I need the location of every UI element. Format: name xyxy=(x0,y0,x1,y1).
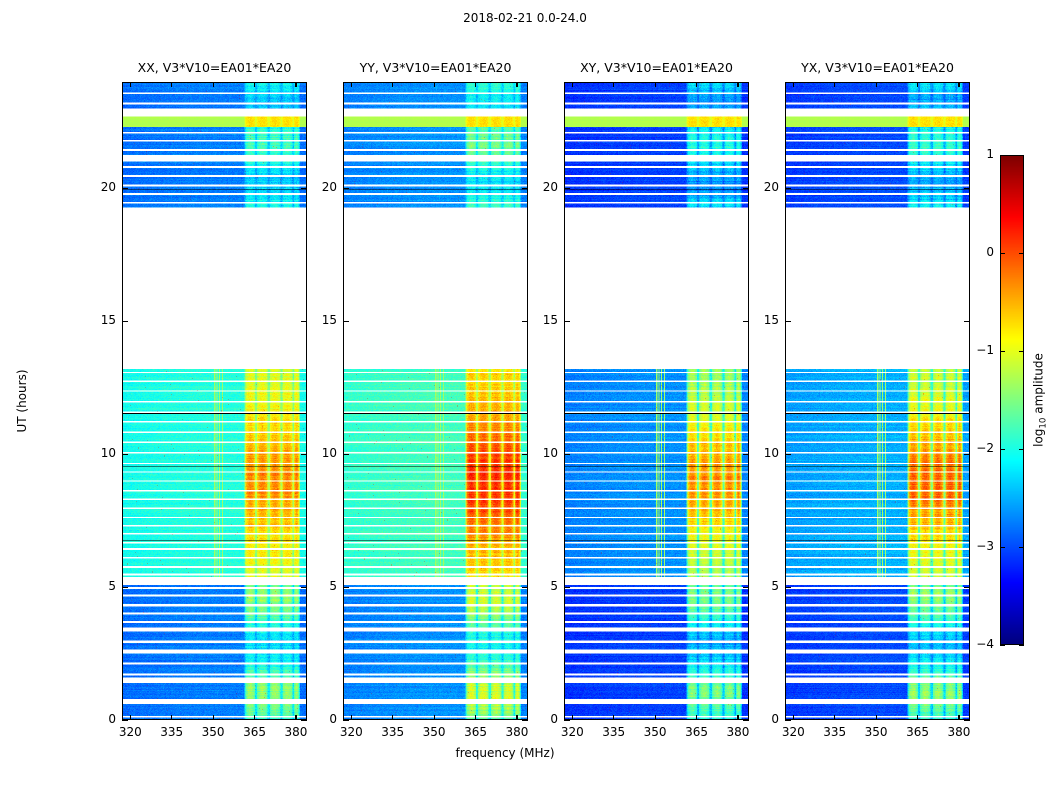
figure-canvas: 2018-02-21 0.0-24.0 UT (hours) frequency… xyxy=(0,0,1050,800)
heatmap-canvas xyxy=(565,83,748,719)
heatmap-image xyxy=(123,83,306,719)
heatmap-canvas xyxy=(344,83,527,719)
x-axis-tick-label: 350 xyxy=(644,725,667,739)
x-axis-tick-label: 320 xyxy=(561,725,584,739)
plot-area[interactable] xyxy=(564,82,749,720)
panel-title: XX, V3*V10=EA01*EA20 xyxy=(138,60,292,75)
panel-title: YY, V3*V10=EA01*EA20 xyxy=(360,60,512,75)
panel-yx: YX, V3*V10=EA01*EA2005101520320335350365… xyxy=(785,82,970,720)
colorbar-tick-label: 0 xyxy=(986,245,994,259)
x-axis-tick-label: 365 xyxy=(243,725,266,739)
plot-area[interactable] xyxy=(343,82,528,720)
heatmap-image xyxy=(786,83,969,719)
panel-xy: XY, V3*V10=EA01*EA2005101520320335350365… xyxy=(564,82,749,720)
panel-xx: XX, V3*V10=EA01*EA2005101520320335350365… xyxy=(122,82,307,720)
y-axis-tick-label: 20 xyxy=(322,180,337,194)
colorbar-tick-label: −1 xyxy=(976,343,994,357)
colorbar-label-sub: 10 xyxy=(1039,418,1049,429)
x-axis-tick-label: 320 xyxy=(782,725,805,739)
colorbar xyxy=(1000,155,1024,645)
x-axis-tick-label: 380 xyxy=(727,725,750,739)
heatmap-canvas xyxy=(786,83,969,719)
x-axis-tick-label: 380 xyxy=(948,725,971,739)
colorbar-tick-label: −2 xyxy=(976,441,994,455)
x-axis-tick-label: 350 xyxy=(202,725,225,739)
figure-suptitle: 2018-02-21 0.0-24.0 xyxy=(0,11,1050,25)
y-axis-tick-label: 5 xyxy=(771,579,779,593)
x-axis-label: frequency (MHz) xyxy=(0,746,1010,760)
y-axis-tick-label: 0 xyxy=(108,712,116,726)
y-axis-tick-label: 15 xyxy=(322,313,337,327)
y-axis-tick-label: 15 xyxy=(101,313,116,327)
x-axis-tick-label: 365 xyxy=(685,725,708,739)
colorbar-tick-label: 1 xyxy=(986,147,994,161)
heatmap-canvas xyxy=(123,83,306,719)
y-axis-label: UT (hours) xyxy=(15,369,29,432)
y-axis-tick-label: 0 xyxy=(771,712,779,726)
y-axis-tick-label: 5 xyxy=(550,579,558,593)
panel-yy: YY, V3*V10=EA01*EA2005101520320335350365… xyxy=(343,82,528,720)
heatmap-image xyxy=(344,83,527,719)
x-axis-tick-label: 320 xyxy=(119,725,142,739)
panel-title: XY, V3*V10=EA01*EA20 xyxy=(580,60,733,75)
x-axis-tick-label: 335 xyxy=(160,725,183,739)
y-axis-tick-label: 20 xyxy=(101,180,116,194)
plot-area[interactable] xyxy=(785,82,970,720)
y-axis-tick-label: 0 xyxy=(550,712,558,726)
x-axis-tick-label: 335 xyxy=(823,725,846,739)
x-axis-tick-label: 365 xyxy=(906,725,929,739)
y-axis-tick-label: 5 xyxy=(108,579,116,593)
y-axis-tick-label: 20 xyxy=(764,180,779,194)
panel-title: YX, V3*V10=EA01*EA20 xyxy=(801,60,954,75)
x-axis-tick-label: 380 xyxy=(285,725,308,739)
y-axis-tick-label: 5 xyxy=(329,579,337,593)
y-axis-tick-label: 20 xyxy=(543,180,558,194)
y-axis-tick-label: 10 xyxy=(101,446,116,460)
y-axis-tick-label: 10 xyxy=(543,446,558,460)
y-axis-tick-label: 10 xyxy=(764,446,779,460)
colorbar-tick-label: −4 xyxy=(976,637,994,651)
colorbar-label-prefix: log xyxy=(1031,429,1045,447)
y-axis-tick-label: 10 xyxy=(322,446,337,460)
heatmap-image xyxy=(565,83,748,719)
plot-area[interactable] xyxy=(122,82,307,720)
x-axis-tick-label: 350 xyxy=(423,725,446,739)
colorbar-label: log10 amplitude xyxy=(1031,353,1048,447)
x-axis-tick-label: 350 xyxy=(865,725,888,739)
y-axis-tick-label: 15 xyxy=(543,313,558,327)
y-axis-tick-label: 0 xyxy=(329,712,337,726)
x-axis-tick-label: 365 xyxy=(464,725,487,739)
x-axis-tick-label: 335 xyxy=(602,725,625,739)
y-axis-tick-label: 15 xyxy=(764,313,779,327)
colorbar-label-suffix: amplitude xyxy=(1031,353,1045,417)
x-axis-tick-label: 320 xyxy=(340,725,363,739)
x-axis-tick-label: 335 xyxy=(381,725,404,739)
x-axis-tick-label: 380 xyxy=(506,725,529,739)
colorbar-tick-label: −3 xyxy=(976,539,994,553)
